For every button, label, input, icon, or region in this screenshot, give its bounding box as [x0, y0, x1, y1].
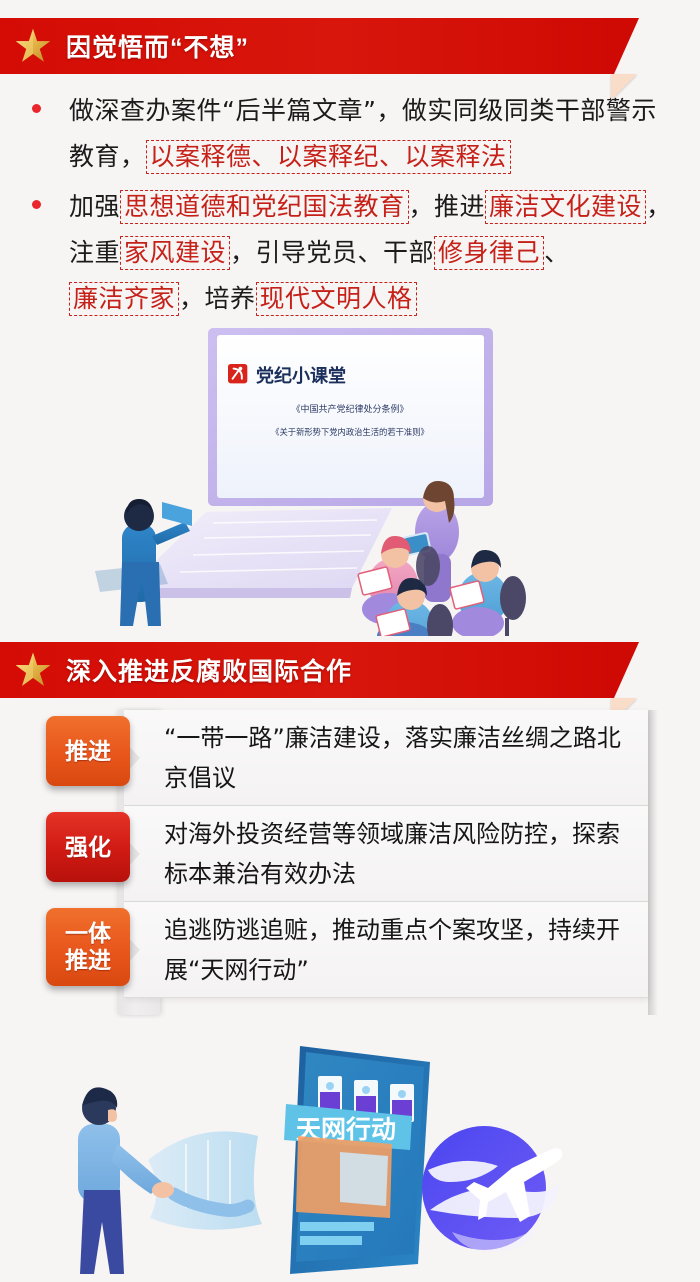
tag-label: 强化: [65, 834, 111, 861]
skynet-operation-illustration: 天网行动: [0, 1040, 700, 1280]
bullet-highlight: 家风建设: [120, 236, 230, 270]
bullet-text: 做深查办案件“后半篇文章”，做实同级同类干部警示教育，以案释德、以案释纪、以案释…: [69, 88, 682, 180]
section1-banner-wrap: 因觉悟而“不想”: [0, 18, 700, 74]
globe-airplane-icon: [422, 1126, 562, 1252]
list-item[interactable]: 追逃防逃追赃，推动重点个案攻坚，持续开展“天网行动”: [124, 902, 648, 998]
bullet-plain: ，培养: [179, 284, 256, 313]
section1-bullets: 做深查办案件“后半篇文章”，做实同级同类干部警示教育，以案释德、以案释纪、以案释…: [0, 74, 700, 322]
list-item-text: 追逃防逃追赃，推动重点个案攻坚，持续开展“天网行动”: [164, 910, 632, 990]
screen-line-2: 《关于新形势下党内政治生活的若干准则》: [271, 427, 429, 437]
list-right-edge-shadow: [648, 710, 658, 1015]
gold-star-icon: [14, 28, 52, 64]
bullet-highlight: 现代文明人格: [256, 282, 417, 316]
bullet-plain: ，推进: [409, 192, 486, 221]
bullet-highlight: 廉洁文化建设: [485, 190, 646, 224]
bullet-plain: 加强: [69, 192, 120, 221]
banner-fold-corner: [611, 74, 637, 100]
international-cooperation-list: “一带一路”廉洁建设，落实廉洁丝绸之路北京倡议 对海外投资经营等领域廉洁风险防控…: [0, 710, 700, 1040]
section2-banner-wrap: 深入推进反腐败国际合作: [0, 642, 700, 698]
data-sheet: [148, 1131, 262, 1229]
list-tags: 推进 强化 一体 推进: [46, 716, 130, 1012]
bullet-dot-icon: [32, 104, 41, 113]
gold-star-icon: [14, 652, 52, 688]
section1-banner: 因觉悟而“不想”: [0, 18, 614, 74]
party-discipline-class-illustration: 党纪小课堂 《中国共产党纪律处分条例》 《关于新形势下党内政治生活的若干准则》: [0, 326, 700, 636]
bullet-item: 做深查办案件“后半篇文章”，做实同级同类干部警示教育，以案释德、以案释纪、以案释…: [22, 88, 682, 180]
bullet-text: 加强思想道德和党纪国法教育，推进廉洁文化建设，注重家风建设，引导党员、干部修身律…: [69, 184, 682, 322]
tag-label: 一体 推进: [65, 920, 111, 974]
list-rows: “一带一路”廉洁建设，落实廉洁丝绸之路北京倡议 对海外投资经营等领域廉洁风险防控…: [124, 710, 648, 998]
bullet-highlight: 修身律己: [434, 236, 544, 270]
section2-banner: 深入推进反腐败国际合作: [0, 642, 614, 698]
section1-title: 因觉悟而“不想”: [66, 28, 249, 64]
list-item-text: “一带一路”廉洁建设，落实廉洁丝绸之路北京倡议: [164, 718, 632, 798]
desk-keyboard: [126, 508, 392, 598]
list-item[interactable]: “一带一路”廉洁建设，落实廉洁丝绸之路北京倡议: [124, 710, 648, 806]
bullet-plain: ，引导党员、干部: [230, 238, 434, 267]
tag-label: 推进: [65, 738, 111, 765]
bullet-highlight: 廉洁齐家: [69, 282, 179, 316]
bullet-highlight: 思想道德和党纪国法教育: [120, 190, 409, 224]
bullet-dot-icon: [32, 200, 41, 209]
screen-line-1: 《中国共产党纪律处分条例》: [291, 403, 408, 415]
tag-yiti-tuijin[interactable]: 一体 推进: [46, 908, 130, 986]
bullet-plain: 、: [544, 238, 570, 267]
bullet-highlight: 以案释德、以案释纪、以案释法: [146, 140, 511, 174]
skynet-screen-panel: 天网行动: [284, 1046, 430, 1274]
screen-title: 党纪小课堂: [256, 365, 346, 387]
bullet-item: 加强思想道德和党纪国法教育，推进廉洁文化建设，注重家风建设，引导党员、干部修身律…: [22, 184, 682, 322]
hammer-and-sickle-icon: [228, 364, 247, 383]
section2-title: 深入推进反腐败国际合作: [66, 652, 352, 688]
list-item-text: 对海外投资经营等领域廉洁风险防控，探索标本兼治有效办法: [164, 814, 632, 894]
tag-tuijin[interactable]: 推进: [46, 716, 130, 786]
list-item[interactable]: 对海外投资经营等领域廉洁风险防控，探索标本兼治有效办法: [124, 806, 648, 902]
infographic-page: 因觉悟而“不想” 做深查办案件“后半篇文章”，做实同级同类干部警示教育，以案释德…: [0, 18, 700, 1282]
tag-qianghua[interactable]: 强化: [46, 812, 130, 882]
presentation-screen: 党纪小课堂 《中国共产党纪律处分条例》 《关于新形势下党内政治生活的若干准则》: [208, 328, 493, 506]
